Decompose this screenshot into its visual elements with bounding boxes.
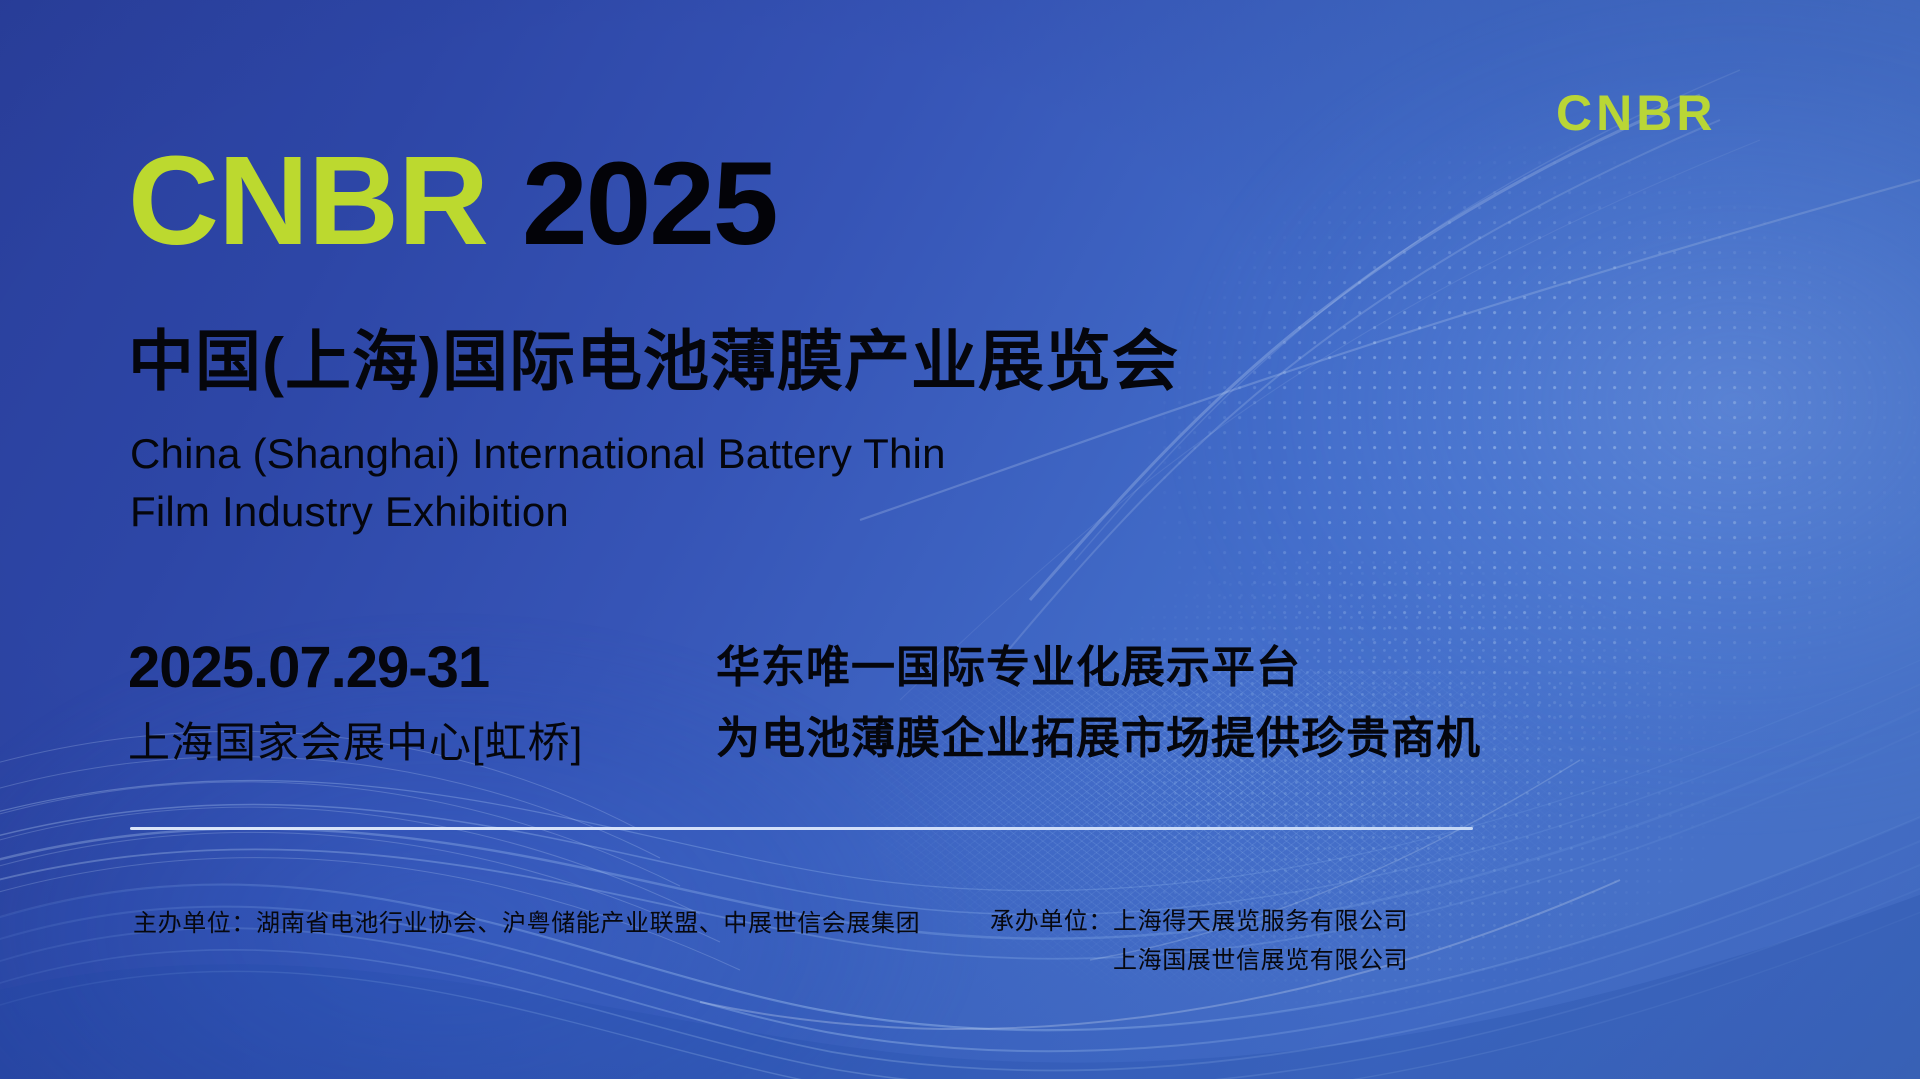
event-date: 2025.07.29-31 <box>128 639 489 697</box>
headline-row: CNBR 2025 <box>128 138 777 264</box>
event-slogan-line1: 华东唯一国际专业化展示平台 <box>716 632 1481 703</box>
event-venue: 上海国家会展中心[虹桥] <box>128 722 583 764</box>
horizontal-divider <box>130 827 1473 830</box>
exhibition-title-cn: 中国(上海)国际电池薄膜产业展览会 <box>128 325 1179 398</box>
corner-brand-logo: CNBR <box>1556 88 1716 138</box>
year-label: 2025 <box>522 145 777 263</box>
event-slogan: 华东唯一国际专业化展示平台 为电池薄膜企业拓展市场提供珍贵商机 <box>716 632 1481 775</box>
exhibition-title-en-line1: China (Shanghai) International Battery T… <box>130 425 1190 483</box>
brand-wordmark: CNBR <box>128 138 488 264</box>
event-slogan-line2: 为电池薄膜企业拓展市场提供珍贵商机 <box>716 703 1481 774</box>
organizer-block: 承办单位：上海得天展览服务有限公司 上海国展世信展览有限公司 <box>990 903 1408 981</box>
organizer-line2: 上海国展世信展览有限公司 <box>990 942 1408 981</box>
exhibition-title-en-line2: Film Industry Exhibition <box>130 483 1190 541</box>
host-organizations: 主办单位：湖南省电池行业协会、沪粤储能产业联盟、中展世信会展集团 <box>133 903 920 938</box>
poster-canvas: CNBR CNBR 2025 中国(上海)国际电池薄膜产业展览会 China (… <box>0 0 1920 1079</box>
exhibition-title-en: China (Shanghai) International Battery T… <box>130 425 1190 541</box>
poster-content: CNBR CNBR 2025 中国(上海)国际电池薄膜产业展览会 China (… <box>0 0 1920 1079</box>
organizer-line1: 承办单位：上海得天展览服务有限公司 <box>990 908 1408 935</box>
